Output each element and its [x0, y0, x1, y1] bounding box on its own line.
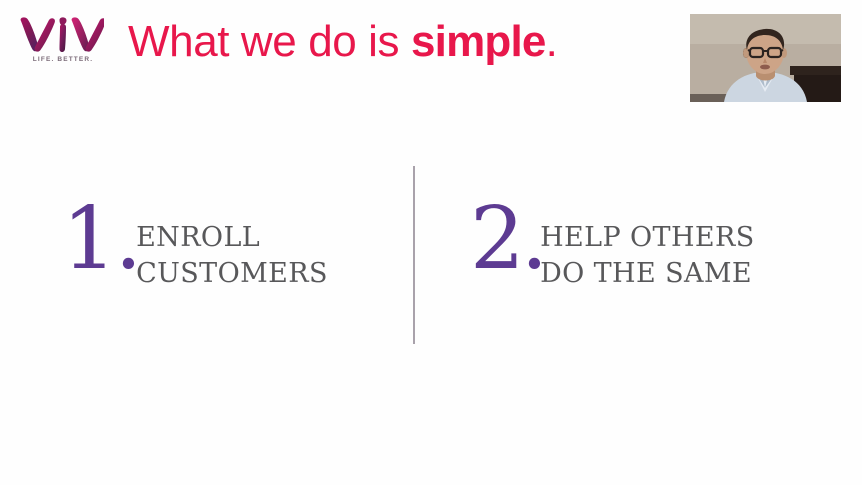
- presenter-video-feed[interactable]: [690, 14, 841, 102]
- slide-title: What we do is simple.: [128, 17, 557, 67]
- viv-logo: LIFE. BETTER.: [18, 16, 108, 74]
- step-number-2: 2.: [470, 196, 544, 282]
- step-number-1: 1.: [62, 196, 140, 282]
- viv-logo-mark: [18, 16, 104, 54]
- step-label-1: ENROLL CUSTOMERS: [136, 204, 328, 292]
- step-label-1-line-2: CUSTOMERS: [136, 256, 328, 292]
- title-normal: What we do is: [128, 17, 411, 66]
- logo-tagline: LIFE. BETTER.: [22, 56, 104, 63]
- title-period: .: [546, 17, 558, 66]
- step-label-1-line-1: ENROLL: [136, 220, 328, 256]
- step-item-2: 2. HELP OTHERS DO THE SAME: [470, 204, 755, 292]
- step-label-2-line-1: HELP OTHERS: [540, 220, 755, 256]
- step-label-2-line-2: DO THE SAME: [540, 256, 755, 292]
- step-label-2: HELP OTHERS DO THE SAME: [540, 204, 755, 292]
- step-item-1: 1. ENROLL CUSTOMERS: [62, 204, 328, 292]
- title-emphasis: simple: [411, 17, 546, 66]
- presentation-slide: LIFE. BETTER. What we do is simple.: [0, 0, 862, 485]
- vertical-divider: [413, 166, 415, 344]
- presenter-video-image: [690, 14, 841, 102]
